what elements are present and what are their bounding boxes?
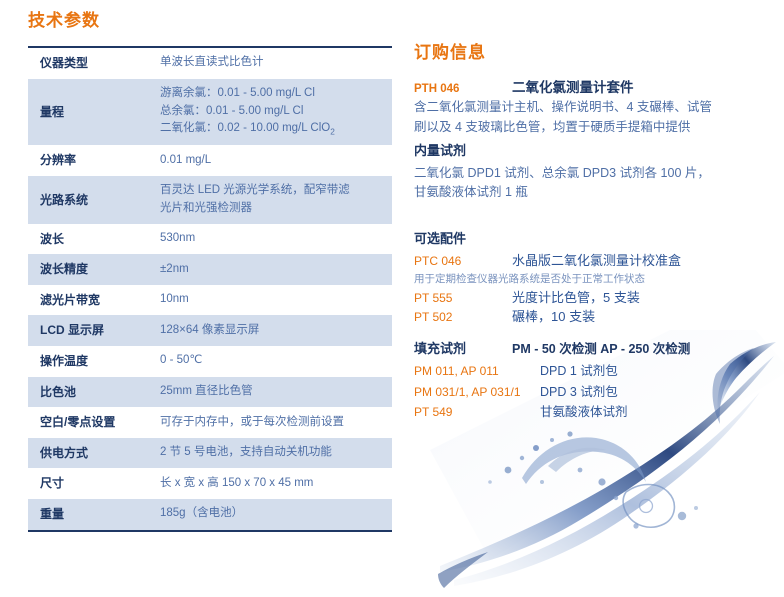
spec-value-line: 128×64 像素显示屏 — [160, 322, 386, 340]
page-title: 技术参数 — [28, 10, 392, 32]
accessory-code: PT 502 — [414, 308, 512, 326]
reagent-code: PM 031/1, AP 031/1 — [414, 383, 540, 402]
table-row: LCD 显示屏128×64 像素显示屏 — [28, 315, 392, 346]
spec-key: 量程 — [28, 79, 152, 146]
refill-reagent-row: PT 549甘氨酸液体试剂 — [414, 402, 766, 422]
included-reagents-text: 二氧化氯 DPD1 试剂、总余氯 DPD3 试剂各 100 片， 甘氨酸液体试剂… — [414, 164, 766, 203]
technical-parameters-section: 技术参数 仪器类型单波长直读式比色计量程游离余氯：0.01 - 5.00 mg/… — [28, 10, 392, 532]
table-row: 空白/零点设置可存于内存中，或于每次检测前设置 — [28, 407, 392, 438]
reagent-description: DPD 3 试剂包 — [540, 382, 618, 402]
table-row: 分辨率0.01 mg/L — [28, 145, 392, 176]
kit-description-line: 含二氧化氯测量计主机、操作说明书、4 支碾棒、试管 — [414, 98, 766, 117]
optional-accessory-row: PT 502碾棒，10 支装 — [414, 307, 766, 327]
spec-value-line: 二氧化氯：0.02 - 10.00 mg/L ClO2 — [160, 120, 386, 139]
accessory-code: PT 555 — [414, 289, 512, 307]
ordering-information-section: 订购信息 PTH 046 二氧化氯测量计套件 含二氧化氯测量计主机、操作说明书、… — [414, 42, 766, 425]
refill-reagents-block: 填充试剂 PM - 50 次检测 AP - 250 次检测 PM 011, AP… — [414, 337, 766, 423]
kit-block: PTH 046 二氧化氯测量计套件 含二氧化氯测量计主机、操作说明书、4 支碾棒… — [414, 78, 766, 137]
table-row: 供电方式2 节 5 号电池，支持自动关机功能 — [28, 438, 392, 469]
spec-value-line: 10nm — [160, 291, 386, 309]
spec-value-line: 总余氯：0.01 - 5.00 mg/L Cl — [160, 103, 386, 121]
spec-key: 分辨率 — [28, 145, 152, 176]
ordering-title: 订购信息 — [414, 42, 766, 64]
optional-accessory-row: PTC 046水晶版二氧化氯测量计校准盒 — [414, 251, 766, 271]
accessory-note: 用于定期检查仪器光路系统是否处于正常工作状态 — [414, 271, 766, 288]
reagent-code: PT 549 — [414, 403, 540, 422]
included-reagents-line: 二氧化氯 DPD1 试剂、总余氯 DPD3 试剂各 100 片， — [414, 164, 766, 183]
spec-key: 操作温度 — [28, 346, 152, 377]
table-row: 比色池25mm 直径比色管 — [28, 377, 392, 408]
spec-value-line: 单波长直读式比色计 — [160, 54, 386, 72]
refill-reagent-row: PM 011, AP 011DPD 1 试剂包 — [414, 361, 766, 381]
spec-value: 0 - 50℃ — [152, 346, 392, 377]
spec-value-line: 光片和光强检测器 — [160, 200, 386, 218]
spec-key: 波长精度 — [28, 254, 152, 285]
spec-value-line: 可存于内存中，或于每次检测前设置 — [160, 414, 386, 432]
spec-key: 尺寸 — [28, 468, 152, 499]
spec-value-line: 百灵达 LED 光源光学系统，配窄带滤 — [160, 182, 386, 200]
reagent-code: PM 011, AP 011 — [414, 362, 540, 381]
spacer — [414, 329, 766, 337]
spec-value-line: 0.01 mg/L — [160, 152, 386, 170]
reagent-description: DPD 1 试剂包 — [540, 361, 618, 381]
spec-value: 10nm — [152, 285, 392, 316]
spacer — [414, 205, 766, 227]
spec-table: 仪器类型单波长直读式比色计量程游离余氯：0.01 - 5.00 mg/L Cl总… — [28, 46, 392, 532]
optional-accessory-row: PT 555光度计比色管，5 支装 — [414, 288, 766, 308]
accessory-description: 光度计比色管，5 支装 — [512, 288, 640, 308]
spec-key: LCD 显示屏 — [28, 315, 152, 346]
accessory-code: PTC 046 — [414, 252, 512, 270]
spec-value: 0.01 mg/L — [152, 145, 392, 176]
spec-key: 空白/零点设置 — [28, 407, 152, 438]
table-row: 尺寸长 x 宽 x 高 150 x 70 x 45 mm — [28, 468, 392, 499]
spec-value-line: 25mm 直径比色管 — [160, 383, 386, 401]
accessory-description: 水晶版二氧化氯测量计校准盒 — [512, 251, 681, 271]
spec-value: 128×64 像素显示屏 — [152, 315, 392, 346]
spec-key: 波长 — [28, 224, 152, 255]
refill-heading-value: PM - 50 次检测 AP - 250 次检测 — [512, 338, 690, 362]
spec-value: 530nm — [152, 224, 392, 255]
kit-description-line: 刷以及 4 支玻璃比色管，均置于硬质手提箱中提供 — [414, 118, 766, 137]
spec-key: 仪器类型 — [28, 47, 152, 79]
refill-heading-row: 填充试剂 PM - 50 次检测 AP - 250 次检测 — [414, 337, 766, 362]
kit-row: PTH 046 二氧化氯测量计套件 — [414, 78, 766, 98]
subscript: 2 — [330, 128, 335, 137]
spec-value: 2 节 5 号电池，支持自动关机功能 — [152, 438, 392, 469]
spec-value: 游离余氯：0.01 - 5.00 mg/L Cl总余氯：0.01 - 5.00 … — [152, 79, 392, 146]
spec-value-line: 0 - 50℃ — [160, 352, 386, 370]
table-row: 操作温度0 - 50℃ — [28, 346, 392, 377]
reagent-description: 甘氨酸液体试剂 — [540, 402, 628, 422]
included-reagents-heading: 内量试剂 — [414, 139, 766, 164]
spec-value: ±2nm — [152, 254, 392, 285]
page-root: 技术参数 仪器类型单波长直读式比色计量程游离余氯：0.01 - 5.00 mg/… — [0, 0, 784, 597]
accessory-description: 碾棒，10 支装 — [512, 307, 595, 327]
refill-heading: 填充试剂 — [414, 337, 512, 362]
spec-value: 25mm 直径比色管 — [152, 377, 392, 408]
optional-accessories-block: 可选配件 PTC 046水晶版二氧化氯测量计校准盒用于定期检查仪器光路系统是否处… — [414, 227, 766, 327]
spec-key: 滤光片带宽 — [28, 285, 152, 316]
spec-value-line: 2 节 5 号电池，支持自动关机功能 — [160, 444, 386, 462]
spec-value: 百灵达 LED 光源光学系统，配窄带滤光片和光强检测器 — [152, 176, 392, 224]
table-row: 波长精度±2nm — [28, 254, 392, 285]
table-row: 重量185g（含电池） — [28, 499, 392, 531]
spec-key: 供电方式 — [28, 438, 152, 469]
optional-accessories-heading: 可选配件 — [414, 227, 766, 252]
table-row: 光路系统百灵达 LED 光源光学系统，配窄带滤光片和光强检测器 — [28, 176, 392, 224]
spec-key: 比色池 — [28, 377, 152, 408]
kit-code: PTH 046 — [414, 81, 512, 98]
table-row: 波长530nm — [28, 224, 392, 255]
included-reagents-block: 内量试剂 二氧化氯 DPD1 试剂、总余氯 DPD3 试剂各 100 片， 甘氨… — [414, 139, 766, 202]
spec-value: 185g（含电池） — [152, 499, 392, 531]
spec-value-line: 长 x 宽 x 高 150 x 70 x 45 mm — [160, 475, 386, 493]
included-reagents-line: 甘氨酸液体试剂 1 瓶 — [414, 183, 766, 202]
table-row: 滤光片带宽10nm — [28, 285, 392, 316]
table-row: 仪器类型单波长直读式比色计 — [28, 47, 392, 79]
kit-name: 二氧化氯测量计套件 — [512, 78, 634, 98]
spec-value: 单波长直读式比色计 — [152, 47, 392, 79]
spec-value: 可存于内存中，或于每次检测前设置 — [152, 407, 392, 438]
spec-key: 重量 — [28, 499, 152, 531]
spec-value: 长 x 宽 x 高 150 x 70 x 45 mm — [152, 468, 392, 499]
spec-value-line: ±2nm — [160, 261, 386, 279]
spec-value-line: 游离余氯：0.01 - 5.00 mg/L Cl — [160, 85, 386, 103]
spec-value-line: 530nm — [160, 230, 386, 248]
spec-value-line: 185g（含电池） — [160, 505, 386, 523]
table-row: 量程游离余氯：0.01 - 5.00 mg/L Cl总余氯：0.01 - 5.0… — [28, 79, 392, 146]
refill-reagent-row: PM 031/1, AP 031/1DPD 3 试剂包 — [414, 382, 766, 402]
spec-key: 光路系统 — [28, 176, 152, 224]
kit-description: 含二氧化氯测量计主机、操作说明书、4 支碾棒、试管 刷以及 4 支玻璃比色管，均… — [414, 98, 766, 137]
